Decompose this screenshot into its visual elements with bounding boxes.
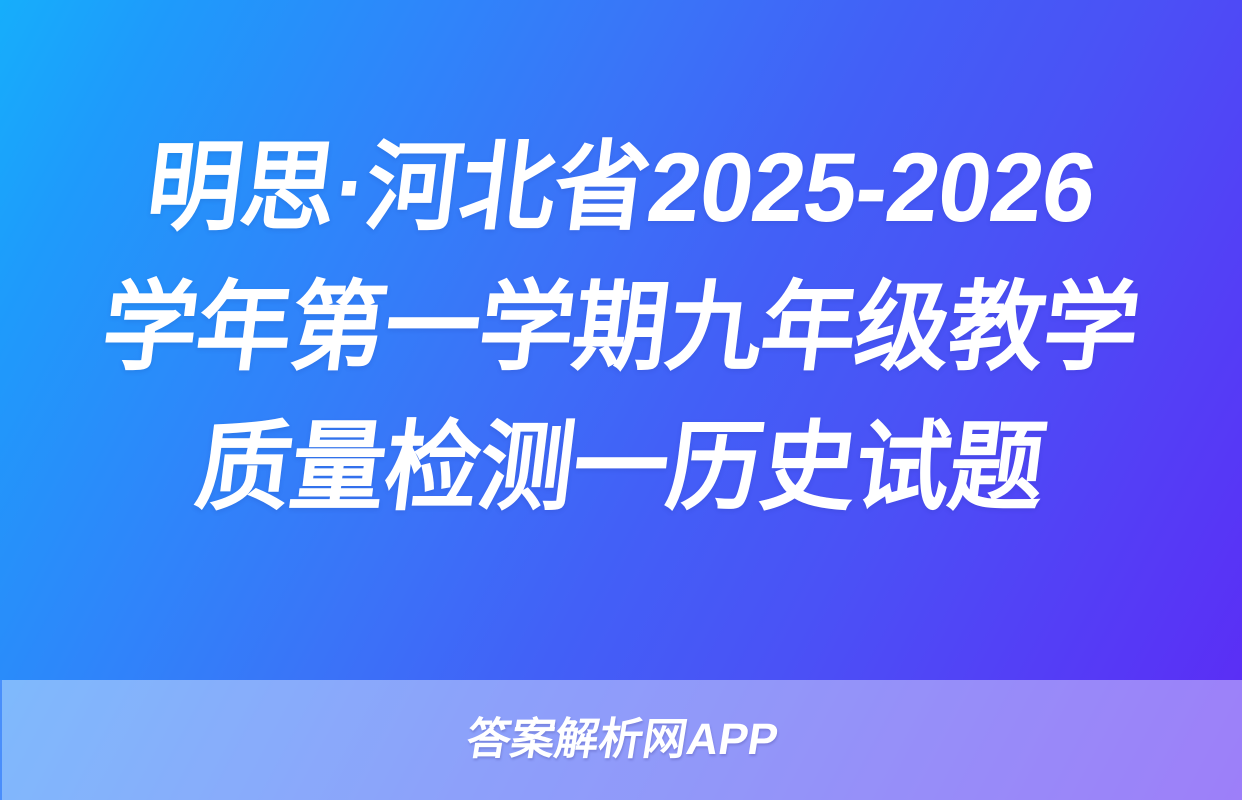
watermark-label: 答案解析网APP <box>463 718 780 762</box>
title-line-1: 明思·河北省2025-2026 <box>139 117 1103 257</box>
title-line-3: 质量检测一历史试题 <box>189 397 1053 537</box>
title-line-2: 学年第一学期九年级教学 <box>95 257 1147 397</box>
watermark-band: 答案解析网APP <box>0 680 1242 800</box>
title-block: 明思·河北省2025-2026 学年第一学期九年级教学 质量检测一历史试题 <box>0 0 1242 680</box>
poster-card: 明思·河北省2025-2026 学年第一学期九年级教学 质量检测一历史试题 答案… <box>0 0 1242 800</box>
